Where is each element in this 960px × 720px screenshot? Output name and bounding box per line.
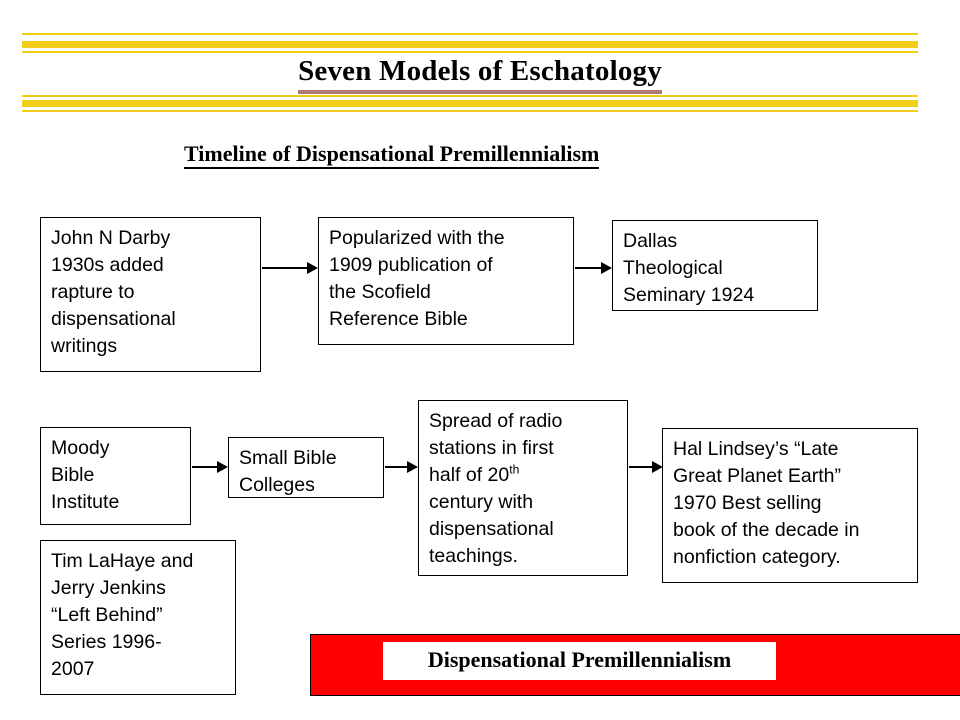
- radio-text-part-1: Spread of radio stations in first half o…: [429, 410, 562, 486]
- bottom-rule-thick: [22, 100, 918, 107]
- flow-box-left-behind-series[interactable]: Tim LaHaye and Jerry Jenkins “Left Behin…: [40, 540, 236, 695]
- flow-box-john-n-darby[interactable]: John N Darby 1930s added rapture to disp…: [40, 217, 261, 372]
- slide-canvas: Seven Models of Eschatology Timeline of …: [0, 0, 960, 720]
- top-rule-thin-upper: [22, 33, 918, 35]
- ordinal-superscript: th: [509, 463, 519, 477]
- flow-box-small-bible-colleges[interactable]: Small Bible Colleges: [228, 437, 384, 498]
- section-heading-text: Timeline of Dispensational Premillennial…: [184, 141, 599, 169]
- arrow-radio-to-lindsey: [629, 460, 663, 474]
- top-rule-thin-lower: [22, 51, 918, 53]
- bottom-rule-thin-lower: [22, 110, 918, 112]
- flow-box-hal-lindsey[interactable]: Hal Lindsey’s “Late Great Planet Earth” …: [662, 428, 918, 583]
- section-heading: Timeline of Dispensational Premillennial…: [184, 141, 599, 167]
- arrow-scofield-to-dallas: [575, 261, 612, 275]
- page-title: Seven Models of Eschatology: [0, 55, 960, 88]
- bottom-rule-thin-upper: [22, 95, 918, 97]
- arrow-colleges-to-radio: [385, 460, 418, 474]
- radio-text-part-2: century with dispensational teachings.: [429, 491, 554, 567]
- arrow-darby-to-scofield: [262, 261, 318, 275]
- arrow-moody-to-colleges: [192, 460, 228, 474]
- flow-box-scofield-reference-bible[interactable]: Popularized with the 1909 publication of…: [318, 217, 574, 345]
- flow-box-moody-bible-institute[interactable]: Moody Bible Institute: [40, 427, 191, 525]
- flow-box-radio-stations[interactable]: Spread of radio stations in first half o…: [418, 400, 628, 576]
- top-rule-thick: [22, 41, 918, 48]
- page-title-text: Seven Models of Eschatology: [298, 55, 662, 94]
- flow-box-dallas-theological-seminary[interactable]: Dallas Theological Seminary 1924: [612, 220, 818, 311]
- banner-label: Dispensational Premillennialism: [383, 642, 776, 680]
